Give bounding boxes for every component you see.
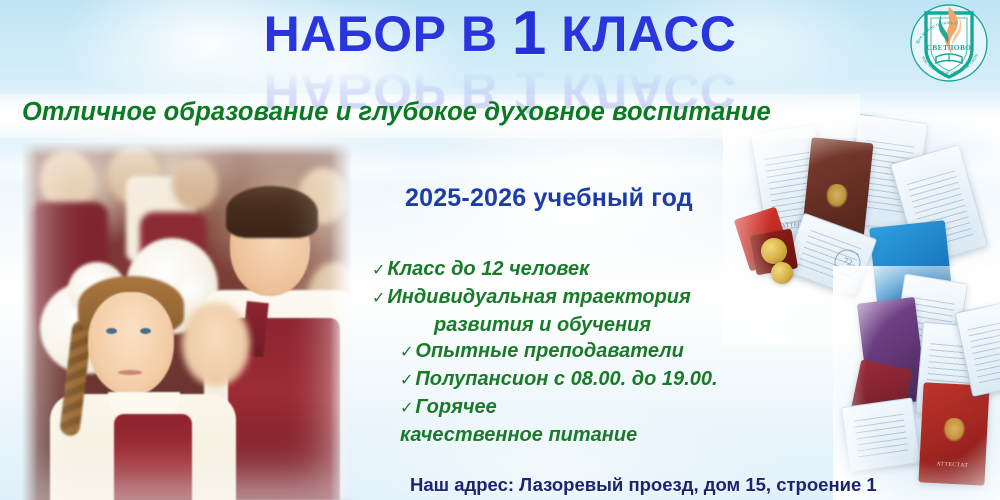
certificate-paper	[890, 274, 968, 379]
check-icon: ✓	[400, 372, 413, 389]
check-icon: ✓	[372, 290, 385, 307]
academic-year: 2025-2026 учебный год	[405, 184, 693, 213]
feature-item: развития и обучения	[372, 312, 872, 338]
subtitle: Отличное образование и глубокое духовное…	[22, 98, 771, 127]
background-head	[172, 158, 218, 210]
feature-label: Класс до 12 человек	[387, 258, 589, 280]
girl-eye	[106, 328, 117, 334]
girl-eye	[140, 328, 151, 334]
certificate-paper	[915, 321, 985, 418]
feature-label: Опытные преподаватели	[415, 340, 683, 362]
headline-text-before: НАБОР В	[264, 6, 512, 62]
certificate-paper: АТТЕСТАТ	[750, 124, 834, 253]
certificate-label: АТТЕСТАТ	[801, 238, 863, 250]
girl-mouth	[118, 370, 142, 375]
photo-scene	[22, 142, 352, 500]
middle-girl-head	[182, 302, 250, 386]
headline-text-after: КЛАСС	[547, 6, 737, 62]
feature-label: Индивидуальная траектория	[387, 286, 690, 308]
coat-of-arms-icon	[825, 182, 849, 208]
emblem-name: СВЕТЛОВО	[927, 43, 972, 52]
girl-pinafore	[114, 414, 192, 500]
check-icon: ✓	[400, 400, 413, 417]
feature-item: ✓Полупансион с 08.00. до 19.00.	[372, 366, 872, 394]
feature-item: ✓Опытные преподаватели	[372, 338, 872, 366]
certificate-cover-red: АТТЕСТАТ	[918, 382, 989, 485]
boy-hair	[226, 186, 318, 238]
feature-label: Горячее	[415, 396, 496, 418]
school-logo: СВЕТЛОВО Все можно познать с тем, что вн…	[906, 1, 992, 83]
schoolchildren-photo	[22, 142, 352, 500]
address-line: Наш адрес: Лазоревый проезд, дом 15, стр…	[410, 474, 877, 496]
feature-label: качественное питание	[400, 424, 637, 446]
feature-item: качественное питание	[372, 422, 872, 448]
feature-item: ✓Класс до 12 человек	[372, 256, 872, 284]
coat-of-arms-icon	[943, 417, 966, 442]
feature-label: развития и обучения	[434, 314, 651, 336]
emblem-icon: СВЕТЛОВО Все можно познать с тем, что вн…	[906, 1, 992, 83]
check-icon: ✓	[372, 262, 385, 279]
poster-canvas: НАБОР В 1 КЛАСС НАБОР В 1 КЛАСС Отличное…	[0, 0, 1000, 500]
certificate-label: АТТЕСТАТ	[919, 460, 985, 469]
girl-face	[88, 292, 174, 396]
certificate-cover-brown: АТТЕСТАТ	[798, 137, 873, 271]
headline-grade-number: 1	[512, 0, 547, 68]
certificate-paper	[890, 144, 988, 266]
feature-item: ✓Горячее	[372, 394, 872, 422]
feature-label: Полупансион с 08.00. до 19.00.	[415, 368, 717, 390]
certificate-label: АТТЕСТАТ	[766, 217, 830, 233]
certificate-cover-blue	[869, 220, 953, 306]
feature-item: ✓Индивидуальная траектория	[372, 284, 872, 312]
features-list: ✓Класс до 12 человек✓Индивидуальная трае…	[372, 256, 872, 448]
certificate-paper	[955, 301, 1000, 397]
page-title: НАБОР В 1 КЛАСС	[0, 6, 1000, 62]
check-icon: ✓	[400, 344, 413, 361]
